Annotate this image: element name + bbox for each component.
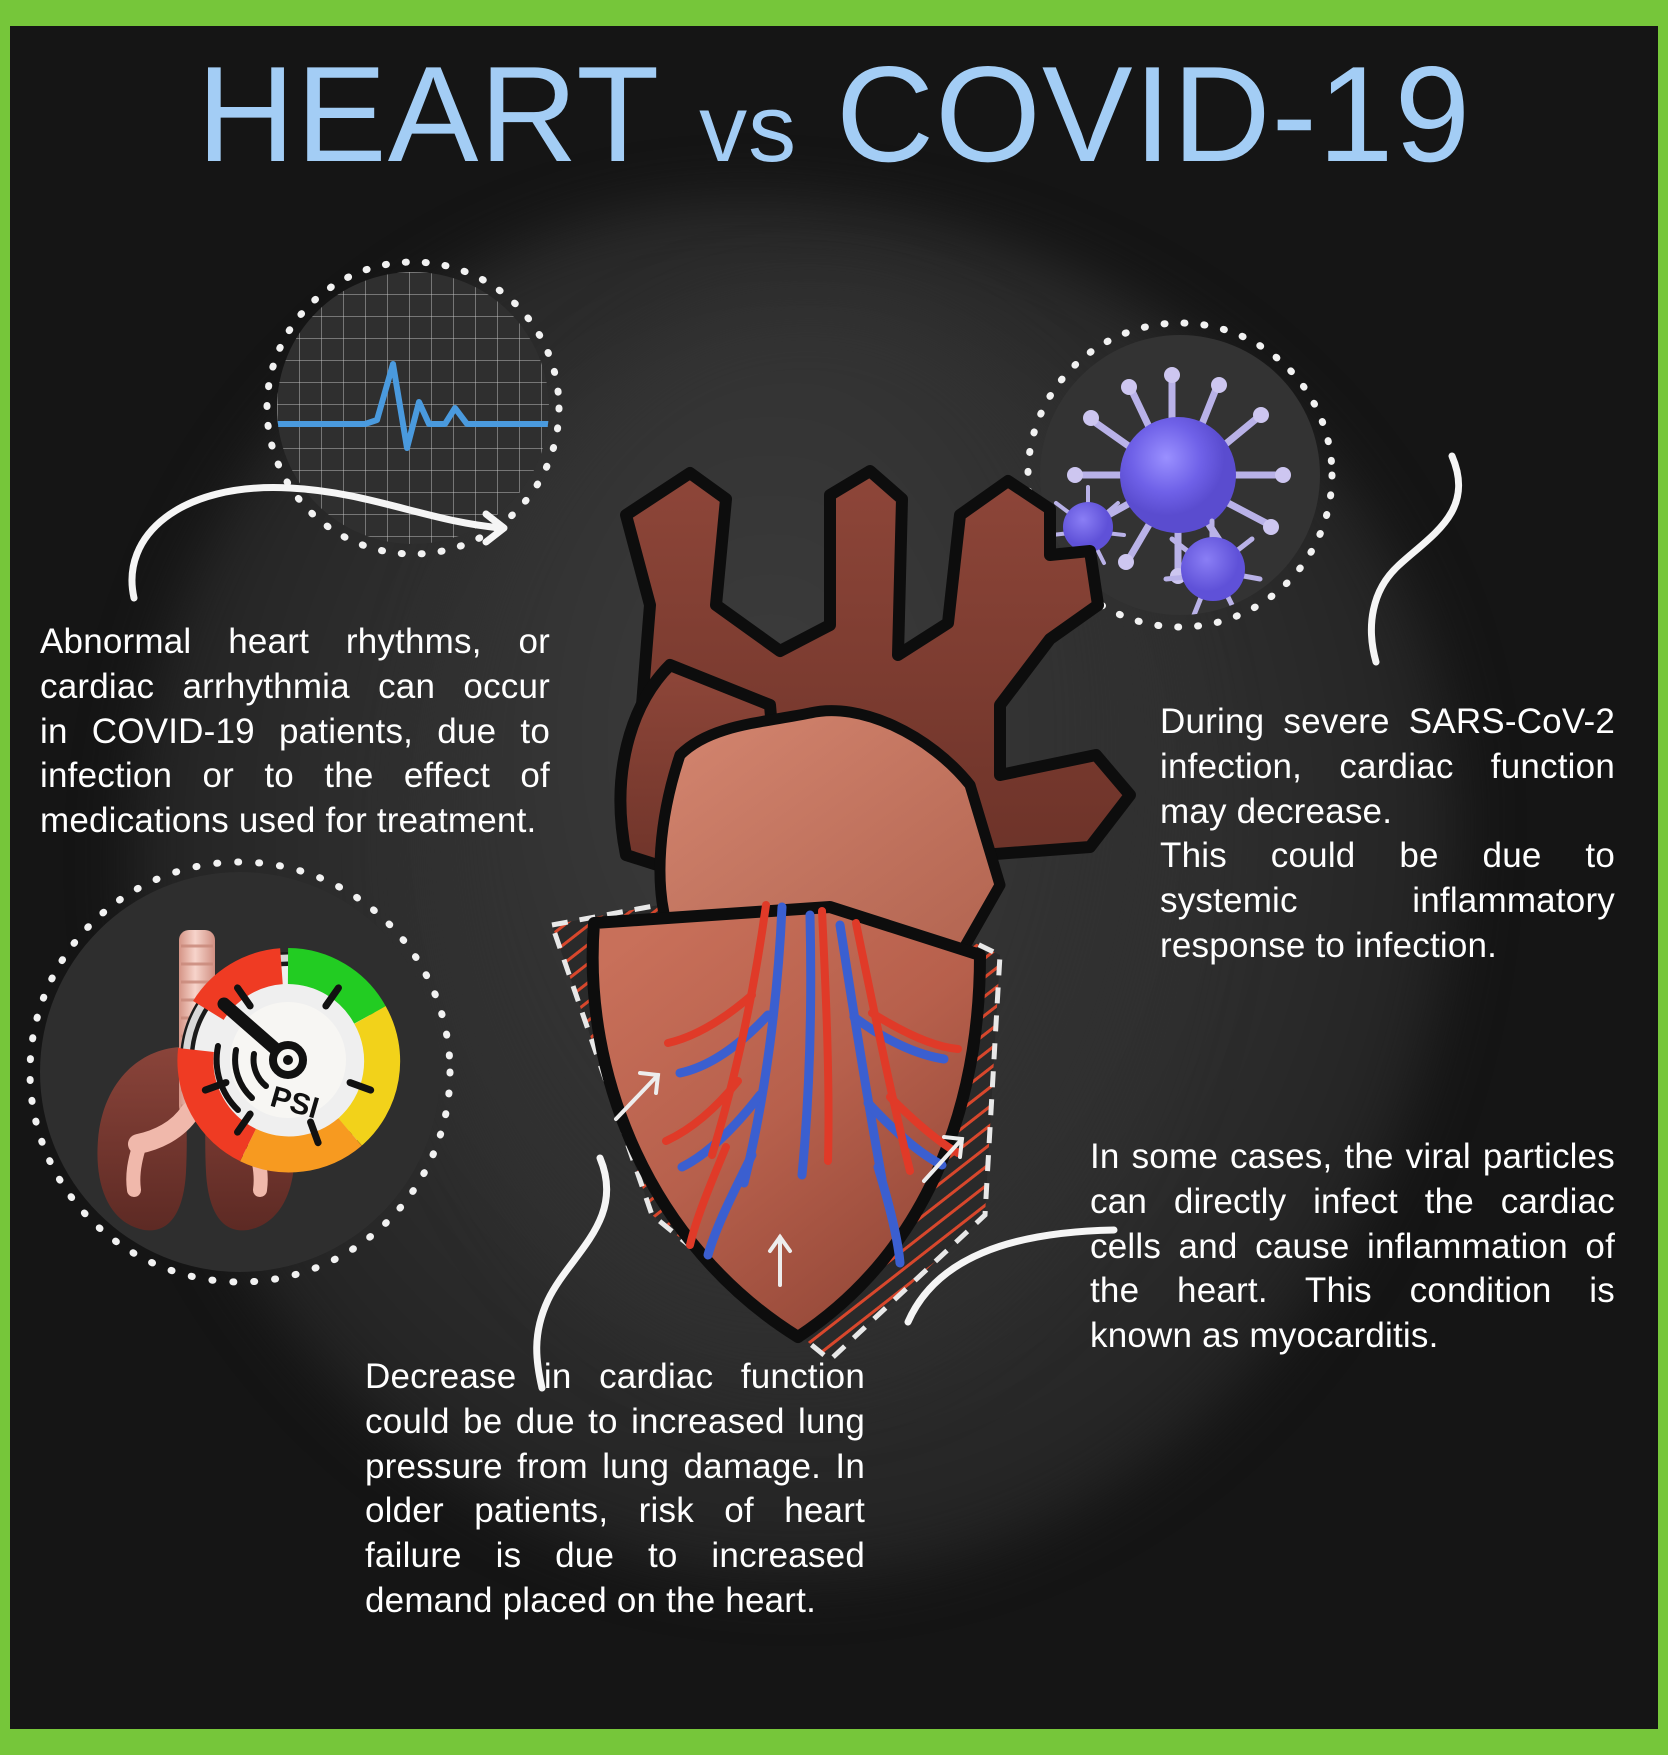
infographic-poster: HEART vs COVID-19 — [0, 0, 1668, 1755]
title-covid: COVID-19 — [836, 38, 1471, 190]
text-line: pressure from lung damage. In — [365, 1445, 865, 1490]
lungs-psi-bubble: PSI — [40, 872, 440, 1272]
title-heart: HEART — [197, 38, 660, 190]
ecg-bubble — [277, 272, 549, 544]
border-top — [0, 0, 1668, 26]
text-line: infection, cardiac function — [1160, 745, 1615, 790]
text-line: systemic inflammatory — [1160, 879, 1615, 924]
text-line: can directly infect the cardiac — [1090, 1180, 1615, 1225]
text-line: This could be due to — [1160, 834, 1615, 879]
text-line: older patients, risk of heart — [365, 1489, 865, 1534]
text-line: the heart. This condition is — [1090, 1269, 1615, 1314]
title-vs: vs — [699, 75, 797, 182]
border-right — [1658, 0, 1668, 1755]
text-line: cells and cause inflammation of — [1090, 1225, 1615, 1270]
text-line: may decrease. — [1160, 790, 1615, 835]
text-line: known as myocarditis. — [1090, 1314, 1615, 1359]
ecg-heartbeat-icon — [277, 272, 549, 544]
text-line: in COVID-19 patients, due to — [40, 710, 550, 755]
callout-text-lung-pressure: Decrease in cardiac function could be du… — [365, 1355, 865, 1624]
text-line: In some cases, the viral particles — [1090, 1135, 1615, 1180]
text-line: medications used for treatment. — [40, 799, 550, 844]
text-line: failure is due to increased — [365, 1534, 865, 1579]
callout-text-arrhythmia: Abnormal heart rhythms, or cardiac arrhy… — [40, 620, 550, 844]
callout-text-sars: During severe SARS-CoV-2 infection, card… — [1160, 700, 1615, 969]
text-line: infection or to the effect of — [40, 754, 550, 799]
text-line: Decrease in cardiac function — [365, 1355, 865, 1400]
text-line: Abnormal heart rhythms, or — [40, 620, 550, 665]
border-left — [0, 0, 10, 1755]
text-line: demand placed on the heart. — [365, 1579, 865, 1624]
callout-text-myocarditis: In some cases, the viral particles can d… — [1090, 1135, 1615, 1359]
text-line: response to infection. — [1160, 924, 1615, 969]
heart-illustration — [530, 455, 1150, 1395]
text-line: cardiac arrhythmia can occur — [40, 665, 550, 710]
psi-gauge-icon: PSI — [40, 872, 440, 1272]
border-bottom — [0, 1729, 1668, 1755]
text-line: could be due to increased lung — [365, 1400, 865, 1445]
page-title: HEART vs COVID-19 — [0, 38, 1668, 190]
text-line: During severe SARS-CoV-2 — [1160, 700, 1615, 745]
